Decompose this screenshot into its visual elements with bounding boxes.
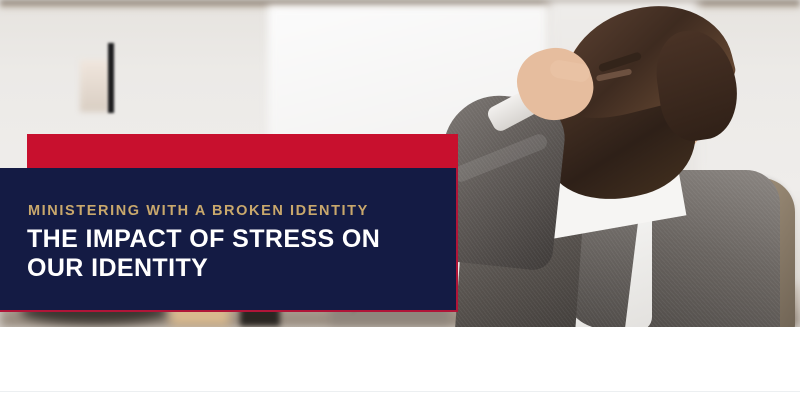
stressed-man-figure: [430, 0, 800, 327]
article-kicker: MINISTERING WITH A BROKEN IDENTITY: [28, 203, 369, 219]
blog-ribbon: BLOG WWW.DRDUANY.ORG: [27, 134, 458, 168]
blog-promo-banner: BLOG WWW.DRDUANY.ORG MINISTERING WITH A …: [0, 0, 800, 400]
footer-bar: Seventh-day Adventist Church® FLORIDA CO…: [0, 327, 800, 400]
photo-monitor-stand: [80, 60, 110, 112]
photo-monitor-edge: [108, 43, 114, 113]
article-headline: THE IMPACT OF STRESS ON OUR IDENTITY: [27, 225, 437, 282]
footer-divider-rule: [0, 391, 800, 392]
